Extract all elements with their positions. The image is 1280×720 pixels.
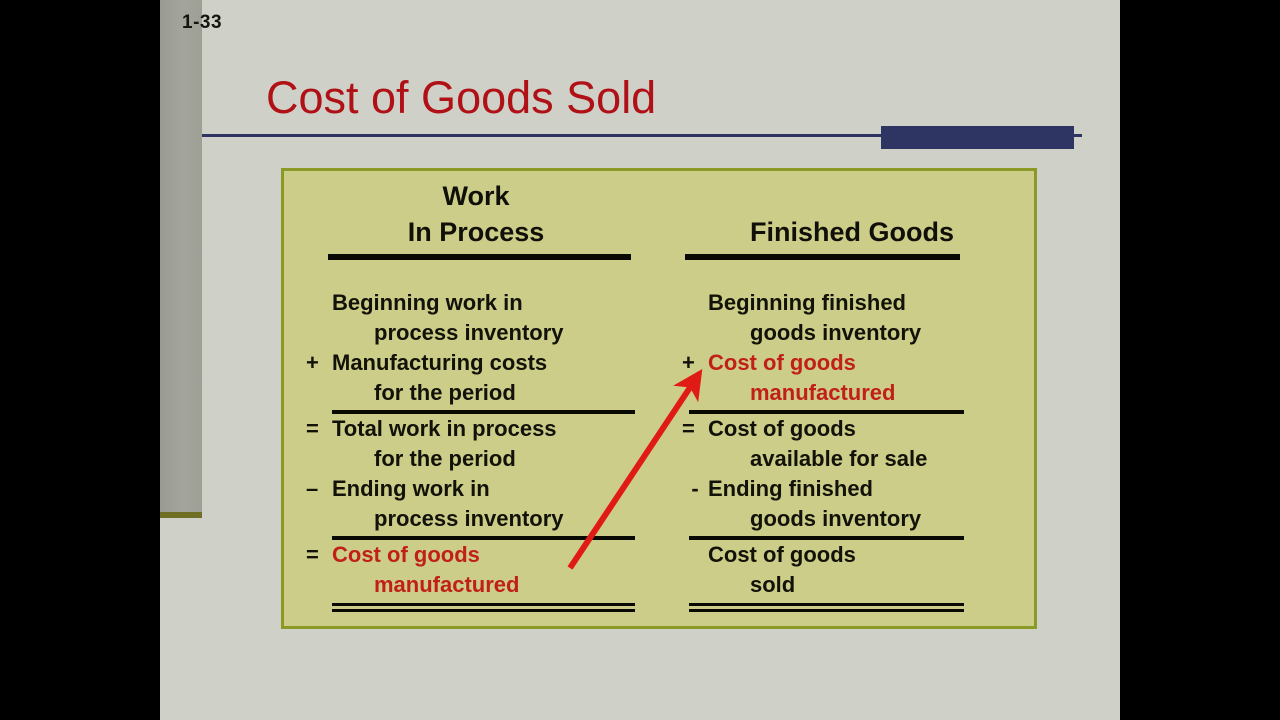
row-line-1: Cost of goods xyxy=(332,540,646,570)
column-heading-line-2: In Process xyxy=(306,214,646,250)
row-line-2: sold xyxy=(708,570,1022,600)
row-text: Ending work in process inventory xyxy=(332,474,646,534)
column-heading-work-in-process: Work In Process xyxy=(306,171,646,250)
row-operator: + xyxy=(682,348,708,378)
row-text: Cost of goods manufactured xyxy=(332,540,646,600)
row-operator: – xyxy=(306,474,332,504)
table-row: + Manufacturing costs for the period xyxy=(306,348,646,408)
table-row-total: = Cost of goods manufactured xyxy=(306,540,646,600)
row-line-2: process inventory xyxy=(332,318,646,348)
row-text: Beginning work in process inventory xyxy=(332,288,646,348)
table-row-highlight: + Cost of goods manufactured xyxy=(682,348,1022,408)
rows-work-in-process: Beginning work in process inventory + Ma… xyxy=(306,288,646,612)
row-text: Ending finished goods inventory xyxy=(708,474,1022,534)
column-finished-goods: Finished Goods Beginning finished goods … xyxy=(682,171,1022,612)
row-line-2: manufactured xyxy=(708,378,1022,408)
row-line-2: available for sale xyxy=(708,444,1022,474)
column-work-in-process: Work In Process Beginning work in proces… xyxy=(306,171,646,612)
column-heading-line-1: Work xyxy=(306,178,646,214)
navy-accent-block xyxy=(881,126,1074,149)
row-text: Total work in process for the period xyxy=(332,414,646,474)
row-line-1: Total work in process xyxy=(332,414,646,444)
table-row: – Ending work in process inventory xyxy=(306,474,646,534)
table-row: Beginning finished goods inventory xyxy=(682,288,1022,348)
row-line-2: for the period xyxy=(332,378,646,408)
slide-number: 1-33 xyxy=(182,12,222,34)
row-text: Cost of goods manufactured xyxy=(708,348,1022,408)
row-line-1: Beginning work in xyxy=(332,288,646,318)
row-line-2: goods inventory xyxy=(708,318,1022,348)
row-text: Cost of goods sold xyxy=(708,540,1022,600)
row-operator: + xyxy=(306,348,332,378)
presentation-viewer: 1-33 Cost of Goods Sold Work In Process … xyxy=(0,0,1280,720)
column-heading-rule xyxy=(328,254,631,260)
row-line-1: Manufacturing costs xyxy=(332,348,646,378)
rows-finished-goods: Beginning finished goods inventory + Cos… xyxy=(682,288,1022,612)
table-row: = Total work in process for the period xyxy=(306,414,646,474)
t-account-panel: Work In Process Beginning work in proces… xyxy=(281,168,1037,629)
column-heading-line-1: Finished Goods xyxy=(682,214,1022,250)
row-text: Manufacturing costs for the period xyxy=(332,348,646,408)
column-heading-finished-goods: Finished Goods xyxy=(682,171,1022,250)
row-line-1: Cost of goods xyxy=(708,414,1022,444)
row-line-1: Cost of goods xyxy=(708,348,1022,378)
row-operator: = xyxy=(682,414,708,444)
row-line-1: Ending work in xyxy=(332,474,646,504)
row-line-2: manufactured xyxy=(332,570,646,600)
row-operator: - xyxy=(682,474,708,504)
table-row: = Cost of goods available for sale xyxy=(682,414,1022,474)
table-row: - Ending finished goods inventory xyxy=(682,474,1022,534)
slide-canvas: 1-33 Cost of Goods Sold Work In Process … xyxy=(160,0,1120,720)
row-line-2: process inventory xyxy=(332,504,646,534)
table-row-total: Cost of goods sold xyxy=(682,540,1022,600)
row-line-2: goods inventory xyxy=(708,504,1022,534)
page-title: Cost of Goods Sold xyxy=(266,72,656,124)
slide-left-decorative-band xyxy=(160,0,202,512)
table-row: Beginning work in process inventory xyxy=(306,288,646,348)
row-text: Cost of goods available for sale xyxy=(708,414,1022,474)
row-operator: = xyxy=(306,414,332,444)
row-operator: = xyxy=(306,540,332,570)
row-line-1: Cost of goods xyxy=(708,540,1022,570)
row-line-1: Ending finished xyxy=(708,474,1022,504)
row-line-2: for the period xyxy=(332,444,646,474)
row-total-double-rule xyxy=(689,603,964,612)
row-text: Beginning finished goods inventory xyxy=(708,288,1022,348)
row-line-1: Beginning finished xyxy=(708,288,1022,318)
row-total-double-rule xyxy=(332,603,635,612)
slide-left-band-footer xyxy=(160,512,202,518)
column-heading-rule xyxy=(685,254,960,260)
